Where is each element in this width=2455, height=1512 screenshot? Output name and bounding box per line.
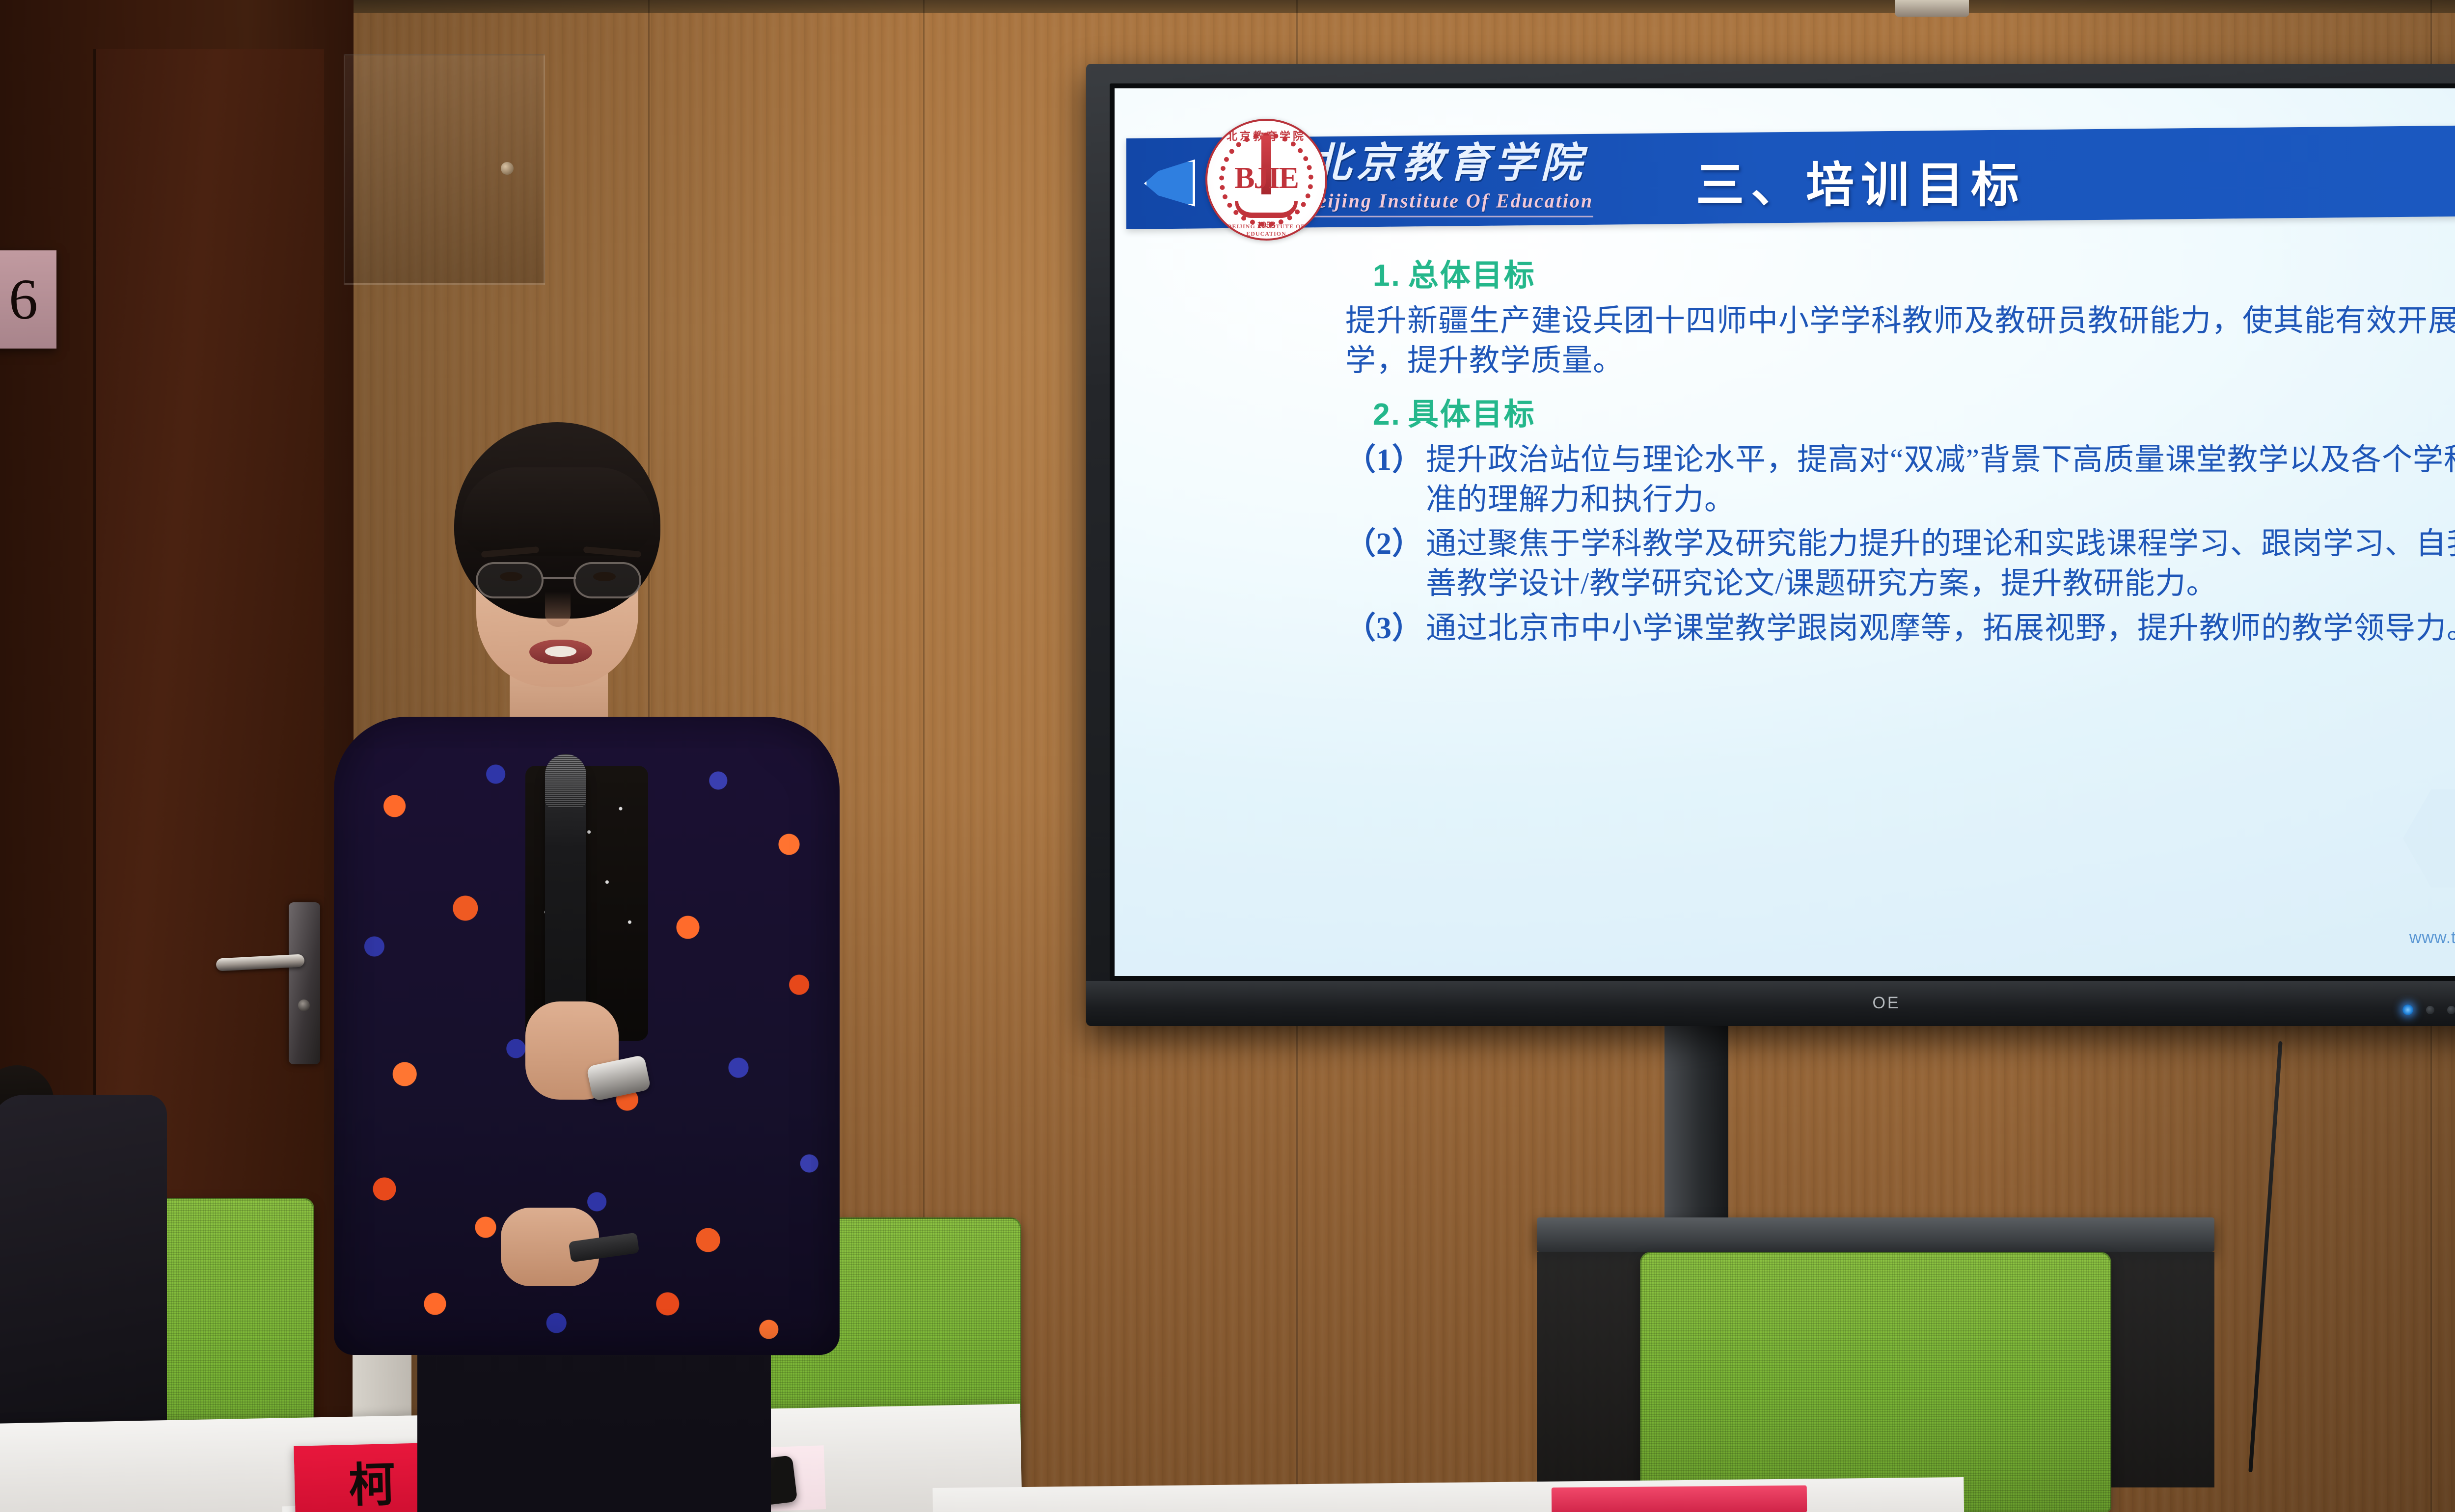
bullet-text: 通过北京市中小学课堂教学跟岗观摩等，拓展视野，提升教师的教学领导力。 — [1426, 609, 2455, 648]
presenter-teeth — [545, 646, 576, 657]
chevron-left-icon — [1144, 160, 1195, 207]
door-keyhole — [298, 999, 310, 1011]
display-control-panel[interactable] — [2402, 1004, 2455, 1015]
display-bottom-bezel: OE — [1086, 981, 2455, 1026]
presenter-nose — [545, 592, 571, 627]
bullet-number: （3） — [1345, 609, 1423, 648]
section-number-1: 1. — [1373, 259, 1401, 293]
section-1-paragraph: 提升新疆生产建设兵团十四师中小学学科教师及教研员教研能力，使其能有效开展课堂教学… — [1345, 301, 2455, 380]
interactive-display[interactable]: 北京教育学院 Beijing Institute Of Education 三、… — [1086, 64, 2455, 1026]
section-number-2: 2. — [1373, 398, 1401, 432]
microphone-head-icon — [545, 754, 586, 808]
presenter-eye — [500, 572, 522, 581]
display-screen[interactable]: 北京教育学院 Beijing Institute Of Education 三、… — [1115, 88, 2455, 976]
door-panel-knob — [501, 162, 514, 175]
brand-lockup: 北京教育学院 Beijing Institute Of Education — [1303, 143, 1593, 217]
presenter-eye — [593, 572, 616, 581]
section-title-1: 总体目标 — [1408, 259, 1536, 293]
section-heading-1: 1.总体目标 — [1373, 250, 2455, 295]
slide-watermark: www.themegallery.com — [2409, 928, 2455, 947]
brand-name-cn: 北京教育学院 — [1303, 143, 1593, 185]
control-button[interactable] — [2426, 1006, 2434, 1014]
door-upper-panel — [344, 54, 545, 285]
bullet-text: 通过聚焦于学科教学及研究能力提升的理论和实践课程学习、跟岗学习、自我反思并完善教… — [1426, 524, 2455, 603]
seal-letters: BJIE — [1234, 163, 1298, 193]
seal-book-icon — [1235, 201, 1298, 218]
display-stand-shelf — [1537, 1217, 2214, 1252]
slide-body: 1.总体目标 提升新疆生产建设兵团十四师中小学学科教师及教研员教研能力，使其能有… — [1345, 250, 2455, 653]
hexagon-decoration — [2334, 745, 2455, 956]
display-inner-bezel: 北京教育学院 Beijing Institute Of Education 三、… — [1110, 83, 2455, 981]
conference-room-photo: 6 — [0, 0, 2455, 1512]
presenter — [314, 422, 869, 1512]
door-number-sign: 6 — [0, 250, 56, 349]
power-led-icon — [2402, 1004, 2413, 1015]
bullet-item: （2） 通过聚焦于学科教学及研究能力提升的理论和实践课程学习、跟岗学习、自我反思… — [1345, 524, 2455, 603]
presentation-slide: 北京教育学院 Beijing Institute Of Education 三、… — [1115, 88, 2455, 976]
ceiling-light — [1895, 0, 1969, 17]
bullet-number: （1） — [1345, 440, 1423, 519]
bullet-text: 提升政治站位与理论水平，提高对“双减”背景下高质量课堂教学以及各个学科新课程标准… — [1426, 440, 2455, 519]
seal-arc-en: BEIJING INSTITUTE OF EDUCATION — [1207, 223, 1325, 238]
slide-title: 三、培训目标 — [1696, 146, 2026, 216]
bullet-item: （3） 通过北京市中小学课堂教学跟岗观摩等，拓展视野，提升教师的教学领导力。 — [1345, 609, 2455, 648]
placard-surname: 柯 — [348, 1447, 396, 1512]
red-object-on-table — [1552, 1485, 1807, 1512]
hexagon-icon — [2403, 789, 2455, 888]
section-heading-2: 2.具体目标 — [1373, 389, 2455, 433]
glasses-bridge — [543, 577, 576, 579]
presenter-fringe — [462, 467, 653, 556]
brand-name-en: Beijing Institute Of Education — [1303, 189, 1593, 217]
control-button[interactable] — [2447, 1006, 2455, 1014]
bullet-number: （2） — [1345, 524, 1423, 603]
bullet-item: （1） 提升政治站位与理论水平，提高对“双减”背景下高质量课堂教学以及各个学科新… — [1345, 440, 2455, 519]
display-brand-logo: OE — [1872, 994, 1900, 1013]
chair — [1640, 1252, 2111, 1512]
section-title-2: 具体目标 — [1408, 398, 1536, 432]
institution-seal-icon: 北京教育学院 BJIE 1953 BEIJING INSTITUTE OF ED… — [1205, 119, 1327, 241]
